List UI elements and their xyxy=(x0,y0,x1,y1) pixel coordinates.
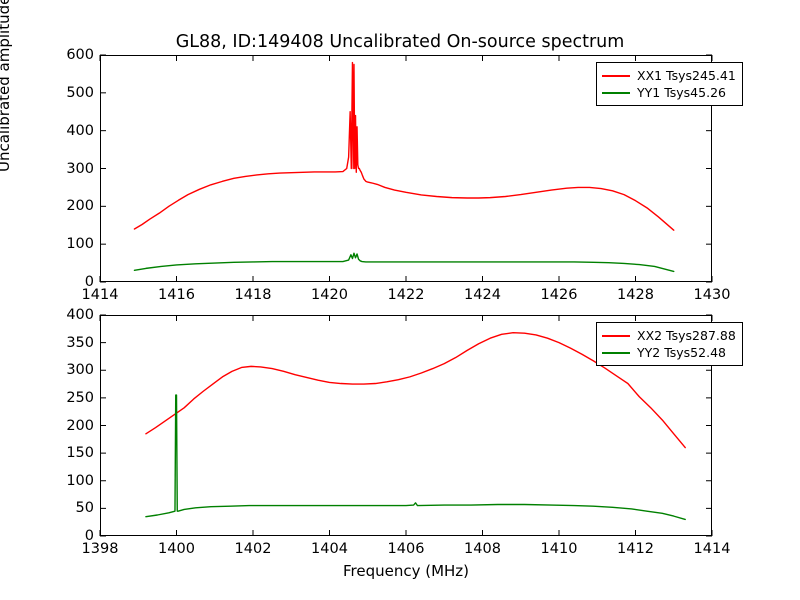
y-tick-label: 0 xyxy=(38,274,94,290)
legend-label: YY1 Tsys45.26 xyxy=(637,85,726,100)
legend-label: XX1 Tsys245.41 xyxy=(637,68,736,83)
legend-entry: YY2 Tsys52.48 xyxy=(602,344,736,361)
y-tick-label: 100 xyxy=(38,473,94,489)
y-axis-title: Uncalibrated amplitude xyxy=(0,0,13,172)
legend-swatch-icon xyxy=(602,75,630,77)
legend-label: XX2 Tsys287.88 xyxy=(637,328,736,343)
x-tick-label: 1402 xyxy=(235,541,272,557)
y-tick-label: 400 xyxy=(38,307,94,323)
legend-entry: XX1 Tsys245.41 xyxy=(602,67,736,84)
legend-swatch-icon xyxy=(602,352,630,354)
legend-entry: YY1 Tsys45.26 xyxy=(602,84,736,101)
x-tick-label: 1408 xyxy=(464,541,501,557)
x-tick-label: 1404 xyxy=(311,541,348,557)
x-tick-label: 1426 xyxy=(541,287,578,303)
legend-entry: XX2 Tsys287.88 xyxy=(602,327,736,344)
legend-label: YY2 Tsys52.48 xyxy=(637,345,726,360)
y-tick-label: 250 xyxy=(38,390,94,406)
y-tick-label: 150 xyxy=(38,445,94,461)
y-tick-label: 200 xyxy=(38,198,94,214)
y-tick-label: 50 xyxy=(38,500,94,516)
panel-bottom-legend: XX2 Tsys287.88YY2 Tsys52.48 xyxy=(596,322,743,366)
y-tick-label: 200 xyxy=(38,418,94,434)
page-title: GL88, ID:149408 Uncalibrated On-source s… xyxy=(176,32,625,52)
x-axis-title: Frequency (MHz) xyxy=(343,562,469,580)
x-tick-label: 1424 xyxy=(464,287,501,303)
x-tick-label: 1416 xyxy=(158,287,195,303)
x-tick-label: 1418 xyxy=(235,287,272,303)
x-tick-label: 1422 xyxy=(388,287,425,303)
y-tick-label: 300 xyxy=(38,362,94,378)
y-tick-label: 400 xyxy=(38,123,94,139)
y-tick-label: 600 xyxy=(38,47,94,63)
x-tick-label: 1420 xyxy=(311,287,348,303)
y-tick-label: 300 xyxy=(38,161,94,177)
y-tick-label: 0 xyxy=(38,528,94,544)
x-tick-label: 1414 xyxy=(694,541,731,557)
y-tick-label: 500 xyxy=(38,85,94,101)
x-tick-label: 1430 xyxy=(694,287,731,303)
series-line xyxy=(134,63,673,231)
x-tick-label: 1412 xyxy=(617,541,654,557)
series-line xyxy=(134,253,673,271)
x-tick-label: 1410 xyxy=(541,541,578,557)
panel-top-legend: XX1 Tsys245.41YY1 Tsys45.26 xyxy=(596,62,743,106)
series-line xyxy=(146,395,685,519)
spectrum-figure: GL88, ID:149408 Uncalibrated On-source s… xyxy=(0,0,800,600)
y-tick-label: 350 xyxy=(38,335,94,351)
legend-swatch-icon xyxy=(602,92,630,94)
x-tick-label: 1406 xyxy=(388,541,425,557)
legend-swatch-icon xyxy=(602,335,630,337)
y-tick-label: 100 xyxy=(38,236,94,252)
x-tick-label: 1428 xyxy=(617,287,654,303)
x-tick-label: 1400 xyxy=(158,541,195,557)
